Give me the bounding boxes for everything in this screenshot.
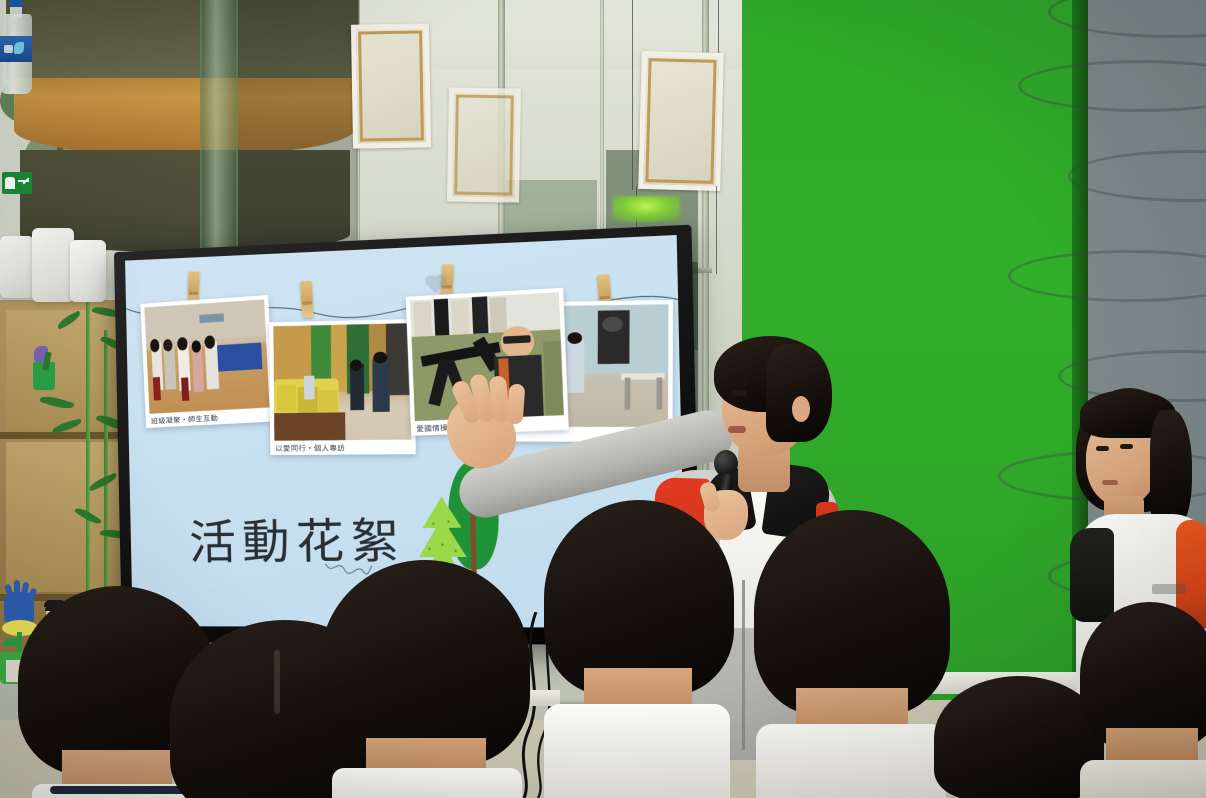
presenter-finger — [507, 383, 526, 424]
audience-member — [1080, 602, 1206, 798]
curved-wood-pillar — [6, 0, 358, 252]
co-presenter-shirt-logo — [1152, 584, 1186, 594]
slide-photo-caption: 班級凝聚‧師生互動 — [151, 413, 219, 427]
co-presenter-eye — [1120, 444, 1133, 449]
hanging-wire — [716, 186, 717, 274]
co-presenter-mouth — [1102, 480, 1118, 485]
photograph-scene: 班級凝聚‧師生互動 — [0, 0, 1206, 798]
slide-photo-image — [274, 323, 412, 441]
audience-member — [934, 676, 1104, 798]
clothespin — [300, 281, 314, 319]
presenter-mouth — [728, 426, 746, 433]
water-bottle — [0, 0, 32, 94]
bottle-label — [0, 36, 32, 62]
slide-photo: 以愛同行‧個人專訪 — [269, 319, 415, 455]
audience-member — [754, 510, 950, 798]
slide-photo-image — [144, 299, 269, 413]
audience-member — [320, 560, 530, 798]
slide-photo: 班級凝聚‧師生互動 — [140, 295, 274, 428]
audience-member — [544, 500, 734, 798]
hanging-display-board — [638, 51, 724, 191]
hanging-display-board — [447, 87, 521, 202]
presenter-jacket-zip — [742, 580, 745, 750]
ceiling-light-glow — [612, 196, 680, 222]
bottle-cap — [9, 0, 23, 7]
exit-sign-icon — [2, 172, 32, 194]
presenter-eyebrow — [730, 382, 748, 386]
foam-block — [0, 236, 34, 298]
presenter-eye — [732, 390, 747, 396]
hanging-display-board — [351, 23, 431, 148]
foam-block — [70, 240, 106, 302]
presenter-hair — [766, 344, 832, 442]
slide-photo-caption: 以愛同行‧個人專訪 — [275, 443, 345, 454]
presenter-ear — [792, 396, 810, 422]
co-presenter-eye — [1096, 446, 1109, 451]
hanging-wire — [632, 0, 633, 190]
foam-block — [32, 228, 74, 302]
